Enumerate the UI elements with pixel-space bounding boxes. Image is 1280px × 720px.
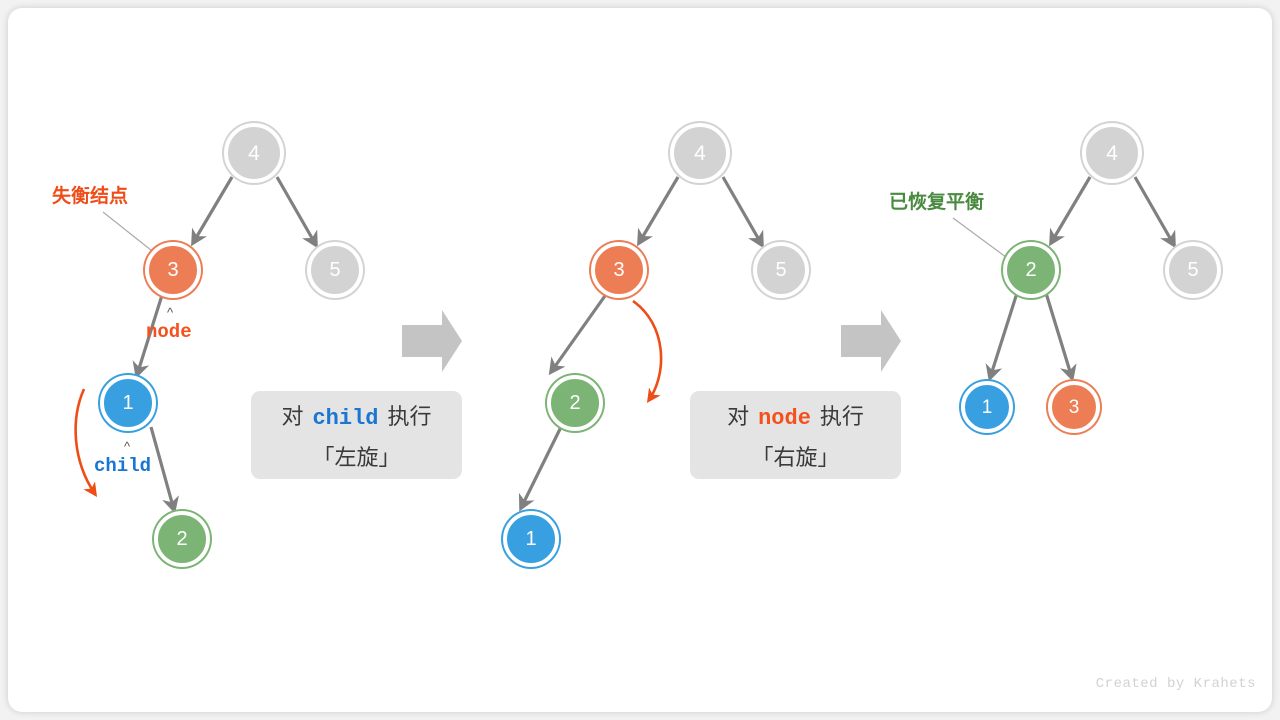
step-prefix: 对 <box>281 399 303 431</box>
step-target-node: node <box>758 406 811 431</box>
tree-node-mid-5[interactable]: 5 <box>753 242 809 298</box>
step-line-1: 对 node 执行 <box>727 399 864 431</box>
tree-node-mid-4[interactable]: 4 <box>670 123 730 183</box>
node-value: 5 <box>329 260 340 280</box>
step-suffix: 执行 <box>388 399 432 431</box>
tree-node-before-3[interactable]: 3 <box>145 242 201 298</box>
caret-up-icon-child: ^ <box>124 440 130 453</box>
node-value: 3 <box>613 260 624 280</box>
annotation-balanced: 已恢复平衡 <box>889 187 984 214</box>
node-value: 3 <box>1069 398 1080 417</box>
node-value: 1 <box>982 398 993 417</box>
pointer-label-child: child <box>94 455 151 477</box>
step-arrow-1-icon <box>402 310 462 372</box>
tree-node-after-2[interactable]: 2 <box>1003 242 1059 298</box>
step-operation-left-rotation: 「左旋」 <box>312 440 400 472</box>
tree-node-after-5[interactable]: 5 <box>1165 242 1221 298</box>
step-operation-right-rotation: 「右旋」 <box>751 440 839 472</box>
node-value: 2 <box>569 393 580 413</box>
node-value: 1 <box>122 393 133 413</box>
pointer-label-node: node <box>146 321 192 343</box>
tree-node-mid-3[interactable]: 3 <box>591 242 647 298</box>
step-target-child: child <box>312 406 378 431</box>
node-value: 5 <box>775 260 786 280</box>
tree-node-after-3[interactable]: 3 <box>1048 381 1100 433</box>
node-value: 1 <box>525 529 536 549</box>
node-value: 4 <box>1106 143 1118 164</box>
left-rotation-arrow <box>76 389 95 494</box>
step-box-left-rotation: 对 child 执行 「左旋」 <box>251 391 462 479</box>
tree-node-mid-1[interactable]: 1 <box>503 511 559 567</box>
tree-node-before-2[interactable]: 2 <box>154 511 210 567</box>
node-value: 2 <box>1025 260 1036 280</box>
node-value: 3 <box>167 260 178 280</box>
tree-node-before-5[interactable]: 5 <box>307 242 363 298</box>
step-arrow-2-icon <box>841 310 901 372</box>
tree-node-after-1[interactable]: 1 <box>961 381 1013 433</box>
watermark-credit: Created by Krahets <box>1096 676 1256 692</box>
node-value: 5 <box>1187 260 1198 280</box>
leader-line-balanced <box>953 218 1014 263</box>
node-value: 4 <box>248 143 260 164</box>
figure-canvas: 4 5 3 1 2 失衡结点 ^ node ^ child 对 child 执行… <box>0 0 1280 720</box>
caret-up-icon-node: ^ <box>167 306 173 319</box>
tree-node-before-4[interactable]: 4 <box>224 123 284 183</box>
node-value: 4 <box>694 143 706 164</box>
step-suffix: 执行 <box>820 399 864 431</box>
node-value: 2 <box>176 529 187 549</box>
step-prefix: 对 <box>727 399 749 431</box>
step-line-1: 对 child 执行 <box>281 399 431 431</box>
step-box-right-rotation: 对 node 执行 「右旋」 <box>690 391 901 479</box>
tree-node-mid-2[interactable]: 2 <box>547 375 603 431</box>
tree-node-before-1[interactable]: 1 <box>100 375 156 431</box>
tree-node-after-4[interactable]: 4 <box>1082 123 1142 183</box>
annotation-unbalanced-node: 失衡结点 <box>52 181 128 208</box>
right-rotation-arrow <box>633 301 661 400</box>
figure-vector-layer <box>0 0 1280 720</box>
